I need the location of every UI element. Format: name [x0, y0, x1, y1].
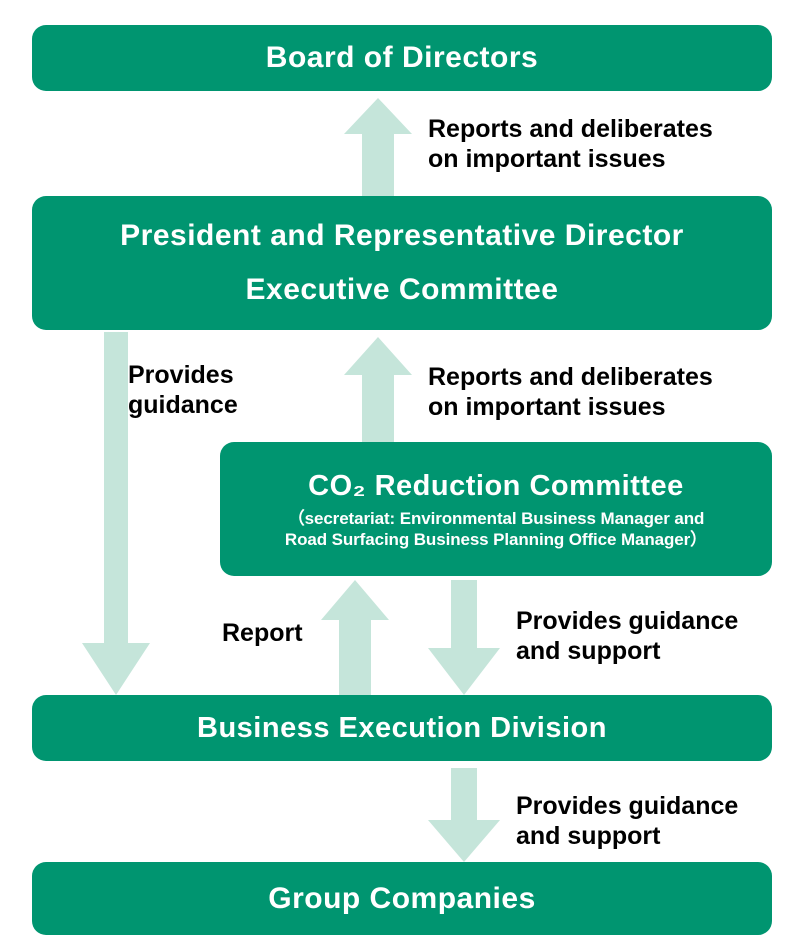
box-business-execution-division: Business Execution Division — [32, 695, 772, 761]
box-committee-secretariat-line2: Road Surfacing Business Planning Office … — [285, 530, 707, 551]
box-president-label-line1: President and Representative Director — [120, 216, 684, 256]
label-reports-to-board: Reports and deliberates on important iss… — [428, 114, 713, 174]
label-report: Report — [222, 618, 303, 648]
box-president-label-line2: Executive Committee — [246, 270, 559, 310]
arrow-up-icon-to-board — [344, 98, 412, 196]
arrow-down-icon-guidance-support-bottom — [428, 768, 500, 862]
arrow-up-icon-to-executive — [344, 337, 412, 442]
label-provides-guidance-support-mid: Provides guidance and support — [516, 606, 738, 666]
label-provides-guidance: Provides guidance — [128, 360, 238, 420]
box-board-label: Board of Directors — [266, 38, 538, 78]
arrow-up-icon-report — [321, 580, 389, 695]
governance-diagram: Board of Directors Reports and deliberat… — [0, 0, 800, 950]
arrow-down-icon-guidance-support-mid — [428, 580, 500, 695]
box-execution-label: Business Execution Division — [197, 709, 607, 747]
label-reports-to-executive: Reports and deliberates on important iss… — [428, 362, 713, 422]
box-president-executive-committee: President and Representative Director Ex… — [32, 196, 772, 330]
box-committee-label: CO₂ Reduction Committee — [308, 467, 684, 505]
label-provides-guidance-support-bottom: Provides guidance and support — [516, 791, 738, 851]
box-group-companies: Group Companies — [32, 862, 772, 935]
box-group-label: Group Companies — [268, 879, 536, 919]
box-committee-secretariat-line1: （secretariat: Environmental Business Man… — [288, 509, 705, 530]
box-board-of-directors: Board of Directors — [32, 25, 772, 91]
box-co2-reduction-committee: CO₂ Reduction Committee （secretariat: En… — [220, 442, 772, 576]
